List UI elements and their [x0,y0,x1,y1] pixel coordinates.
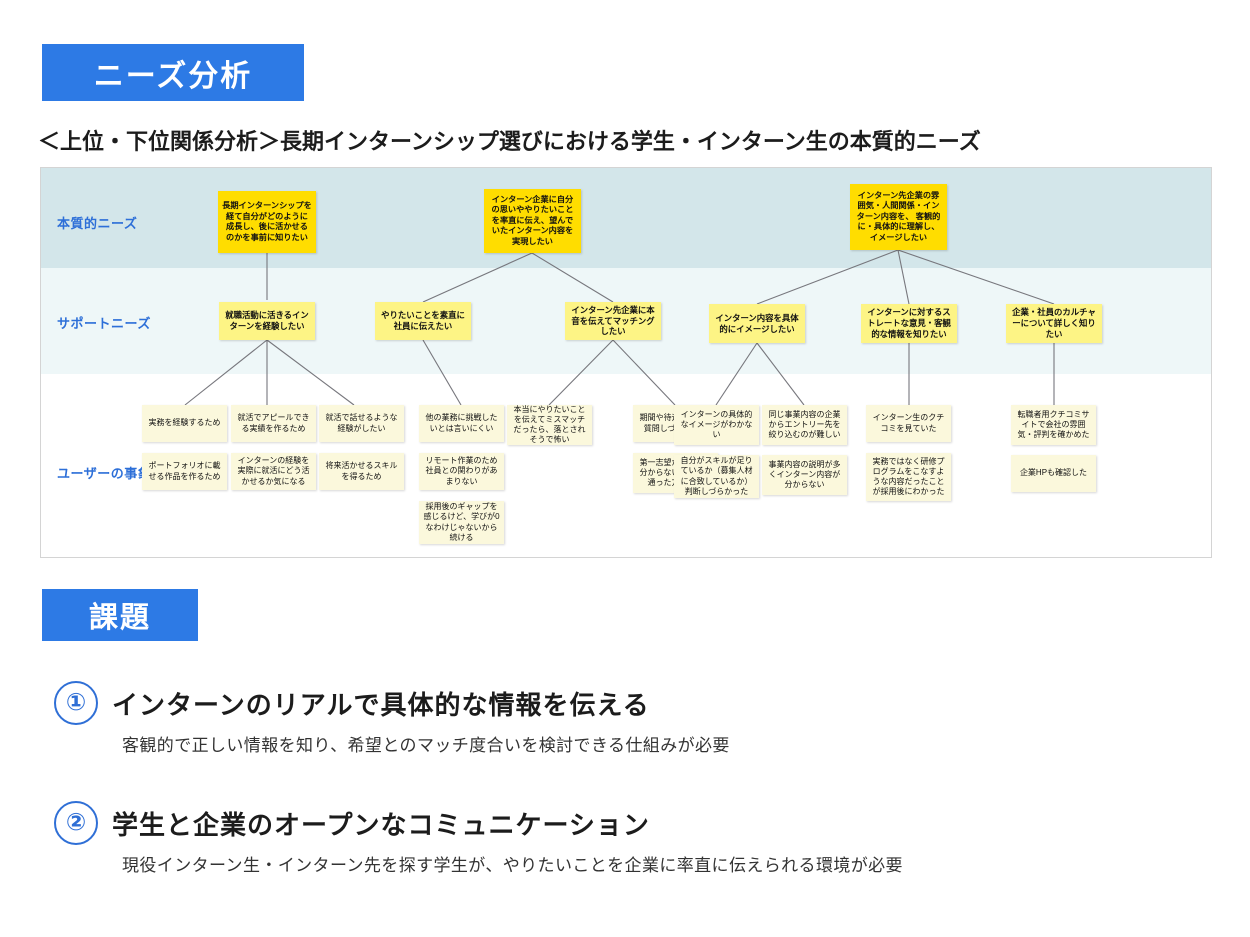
user-event-note[interactable]: 他の業務に挑戦したいとは言いにくい [419,405,504,442]
band-label-support: サポートニーズ [57,313,151,332]
user-event-note[interactable]: 採用後のギャップを感じるけど、学びが0なわけじゃないから続ける [419,501,504,544]
user-event-note[interactable]: 実務ではなく研修プログラムをこなすような内容だったことが採用後にわかった [866,453,951,501]
user-event-note[interactable]: 転職者用クチコミサイトで会社の雰囲気・評判を確かめた [1011,405,1096,445]
issue-title: インターンのリアルで具体的な情報を伝える [112,685,650,722]
support-need-note[interactable]: インターン先企業に本音を伝えてマッチングしたい [565,302,661,340]
band-label-events: ユーザーの事象 [57,463,151,482]
user-event-note[interactable]: 事業内容の説明が多くインターン内容が分からない [762,455,847,495]
support-need-note[interactable]: インターンに対するストレートな意見・客観的な情報を知りたい [861,304,957,343]
user-event-note[interactable]: 同じ事業内容の企業からエントリー先を絞り込むのが難しい [762,405,847,445]
analysis-title: ＜上位・下位関係分析＞長期インターンシップ選びにおける学生・インターン生の本質的… [38,124,981,156]
user-event-note[interactable]: 将来活かせるスキルを得るため [319,453,404,490]
hierarchy-diagram: 本質的ニーズ サポートニーズ ユーザーの事象 長期インターンシップを経て自分がど… [40,167,1212,558]
support-need-note[interactable]: 就職活動に活きるインターンを経験したい [219,302,315,340]
support-need-note[interactable]: インターン内容を具体的にイメージしたい [709,304,805,343]
essential-need-note[interactable]: インターン先企業の雰囲気・人間関係・インターン内容を、 客観的に・具体的に理解し… [850,184,947,250]
user-event-note[interactable]: 就活で話せるような経験がしたい [319,405,404,442]
issue-item: ② 学生と企業のオープンなコミュニケーション 現役インターン生・インターン先を探… [54,801,1204,876]
band-label-essential: 本質的ニーズ [57,213,137,232]
issue-header: ① インターンのリアルで具体的な情報を伝える [54,681,1204,725]
issues-banner: 課題 [42,589,198,641]
issue-number-badge: ① [54,681,98,725]
issue-description: 現役インターン生・インターン先を探す学生が、やりたいことを企業に率直に伝えられる… [122,851,1204,876]
essential-need-note[interactable]: 長期インターンシップを経て自分がどのように成長し、後に活かせるのかを事前に知りた… [218,191,316,253]
user-event-note[interactable]: 企業HPも確認した [1011,455,1096,492]
issue-number-badge: ② [54,801,98,845]
user-event-note[interactable]: 就活でアピールできる実績を作るため [231,405,316,442]
user-event-note[interactable]: 本当にやりたいことを伝えてミスマッチだったら、落とされそうで怖い [507,405,592,445]
user-event-note[interactable]: インターンの経験を実際に就活にどう活かせるか気になる [231,453,316,490]
user-event-note[interactable]: 自分がスキルが足りているか（募集人材に合致しているか）判断しづらかった [674,455,759,498]
needs-analysis-banner: ニーズ分析 [42,44,304,101]
band-essential-needs [41,168,1211,268]
support-need-note[interactable]: 企業・社員のカルチャーについて詳しく知りたい [1006,304,1102,343]
user-event-note[interactable]: インターン生のクチコミを見ていた [866,405,951,442]
user-event-note[interactable]: 実務を経験するため [142,405,227,442]
issue-description: 客観的で正しい情報を知り、希望とのマッチ度合いを検討できる仕組みが必要 [122,731,1204,756]
user-event-note[interactable]: リモート作業のため社員との関わりがあまりない [419,453,504,490]
support-need-note[interactable]: やりたいことを素直に社員に伝えたい [375,302,471,340]
issue-header: ② 学生と企業のオープンなコミュニケーション [54,801,1204,845]
essential-need-note[interactable]: インターン企業に自分の思いややりたいことを率直に伝え、望んでいたインターン内容を… [484,189,581,253]
issue-item: ① インターンのリアルで具体的な情報を伝える 客観的で正しい情報を知り、希望との… [54,681,1204,756]
user-event-note[interactable]: インターンの具体的なイメージがわかない [674,405,759,445]
user-event-note[interactable]: ポートフォリオに載せる作品を作るため [142,453,227,490]
issue-title: 学生と企業のオープンなコミュニケーション [112,805,650,842]
